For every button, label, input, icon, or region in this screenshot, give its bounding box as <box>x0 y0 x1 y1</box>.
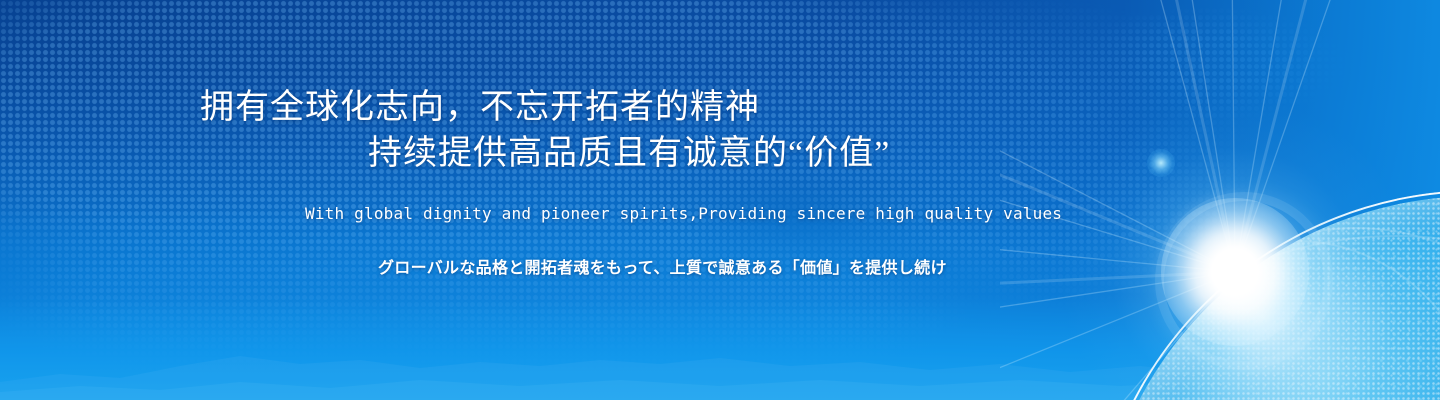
banner-copy: 拥有全球化志向，不忘开拓者的精神 持续提供高品质且有诚意的“价值” With g… <box>0 0 1440 400</box>
headline-line-1: 拥有全球化志向，不忘开拓者的精神 <box>200 91 760 125</box>
hero-banner: 拥有全球化志向，不忘开拓者的精神 持续提供高品质且有诚意的“价值” With g… <box>0 0 1440 400</box>
subtitle-english: With global dignity and pioneer spirits,… <box>305 206 1062 222</box>
headline-line-2: 持续提供高品质且有诚意的“价值” <box>368 137 890 171</box>
subtitle-japanese: グローバルな品格と開拓者魂をもって、上質で誠意ある「価値」を提供し続け <box>378 260 947 276</box>
